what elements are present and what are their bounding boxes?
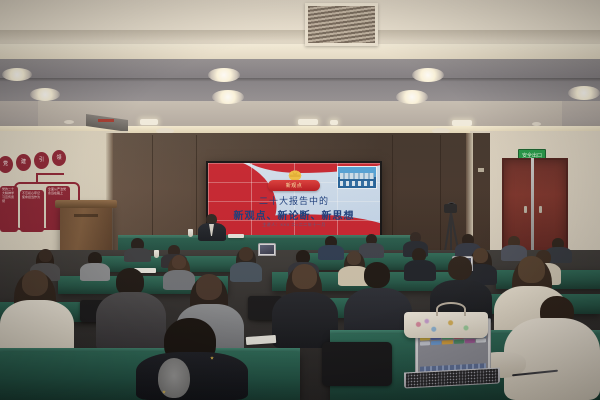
party-emblem-icon bbox=[287, 169, 303, 180]
inset-bottom-bar bbox=[340, 181, 374, 186]
projector-indicator-light bbox=[98, 119, 114, 122]
wall-decal-panel: 不忘初心牢记使命担当作为 bbox=[20, 190, 44, 232]
door-handle-icon[interactable] bbox=[539, 206, 542, 213]
ceiling-strip-light bbox=[140, 119, 158, 125]
podium-panel-line bbox=[74, 214, 98, 217]
slide-badge: 新观点 bbox=[268, 180, 320, 191]
audience-body bbox=[124, 248, 151, 262]
handout-papers bbox=[228, 234, 244, 238]
bag-floral-pattern bbox=[410, 318, 480, 334]
ceiling-strip-light bbox=[330, 120, 338, 125]
slide-video-inset bbox=[337, 166, 377, 189]
air-vent-icon bbox=[305, 3, 378, 46]
audience-body bbox=[359, 243, 384, 258]
audience-body bbox=[272, 292, 338, 348]
bag-handle-icon bbox=[436, 302, 466, 316]
audience-body bbox=[163, 270, 195, 290]
audience-head bbox=[448, 256, 472, 280]
slide-title-line1: 二十大报告中的 bbox=[208, 194, 380, 207]
audience-body bbox=[404, 260, 436, 281]
ceiling-cove-molding bbox=[0, 44, 600, 60]
tripod-leg bbox=[450, 213, 452, 253]
ceiling-downlight bbox=[212, 90, 244, 104]
wall-decal-panel: 党的二十大精神学习宣传贯彻 bbox=[0, 186, 18, 232]
ceiling-downlight bbox=[208, 68, 240, 82]
projection-screen: 新观点 二十大报告中的 新观点、新论断、新思想 主讲人：XXX 二○二二年十一月 bbox=[206, 161, 382, 240]
wall-panel-seam bbox=[440, 135, 441, 253]
door-handle-icon[interactable] bbox=[524, 206, 527, 213]
wall-decal-badge: 建 bbox=[16, 154, 31, 171]
wall-decal-badge: 引 bbox=[34, 152, 49, 169]
wall-decal-badge: 领 bbox=[52, 150, 66, 166]
audience-head bbox=[347, 251, 361, 265]
ceiling-downlight bbox=[412, 68, 444, 82]
inset-skyline bbox=[340, 173, 374, 179]
audience-head bbox=[172, 255, 186, 269]
ceiling-strip-light bbox=[298, 119, 318, 125]
laptop-display bbox=[260, 245, 274, 254]
paper-cup bbox=[154, 250, 159, 258]
audience-body bbox=[96, 292, 166, 352]
slide-subtitle: 主讲人：XXX 二○二二年十一月 bbox=[208, 222, 380, 228]
audience-head bbox=[22, 270, 48, 296]
podium-top-surface bbox=[55, 200, 117, 208]
audience-head bbox=[39, 249, 52, 262]
audience-head bbox=[239, 247, 253, 261]
ceiling-sensor bbox=[532, 122, 541, 126]
audience-body bbox=[318, 245, 344, 260]
audience-head bbox=[518, 256, 545, 283]
ceiling-sensor bbox=[64, 120, 74, 124]
audience-head bbox=[292, 264, 317, 289]
ceiling-downlight bbox=[568, 86, 600, 100]
chair-foreground[interactable] bbox=[322, 342, 392, 386]
wall-decal-stem bbox=[36, 173, 64, 175]
presentation-slide: 新观点 二十大报告中的 新观点、新论断、新思想 主讲人：XXX 二○二二年十一月 bbox=[208, 163, 380, 238]
ceiling-downlight bbox=[396, 90, 428, 104]
conference-room-photo: 党 建 引 领 党的二十大精神学习宣传贯彻 不忘初心牢记使命担当作为 全面从严治… bbox=[0, 0, 600, 400]
wall-switch[interactable] bbox=[478, 168, 484, 172]
ceiling-beam-seam bbox=[0, 78, 600, 82]
ceiling-downlight bbox=[2, 68, 32, 81]
audience-head bbox=[473, 248, 488, 263]
audience-laptop[interactable] bbox=[258, 243, 276, 256]
audience-body bbox=[230, 262, 262, 282]
ceiling-downlight bbox=[30, 88, 60, 101]
door-center-mullion bbox=[531, 158, 534, 256]
audience-body bbox=[80, 263, 110, 281]
tripod-camera bbox=[444, 204, 457, 213]
ceiling-strip-light bbox=[452, 120, 472, 126]
audience-head bbox=[364, 262, 390, 288]
rabbit-print-graphic bbox=[158, 358, 190, 398]
paper-cup bbox=[188, 229, 193, 237]
slide-title-line2: 新观点、新论断、新思想 bbox=[208, 207, 380, 222]
audience-head bbox=[196, 274, 222, 300]
foreground-person-body bbox=[136, 352, 248, 400]
